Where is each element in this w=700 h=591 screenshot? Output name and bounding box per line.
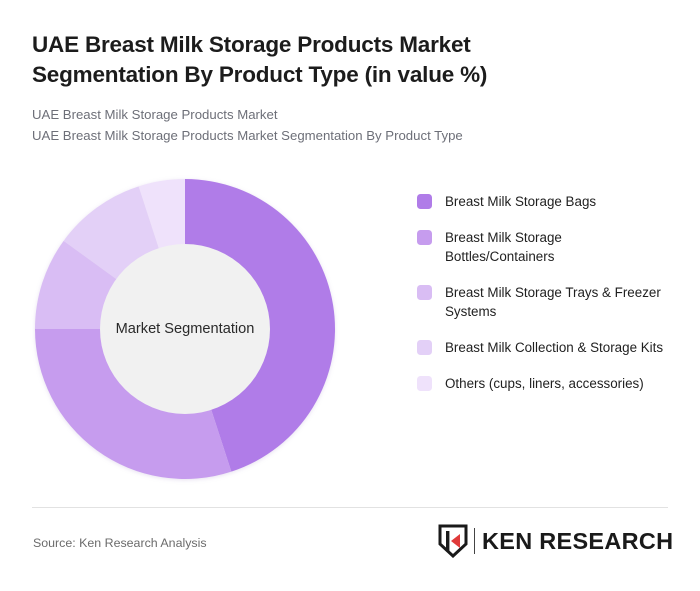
legend-item[interactable]: Breast Milk Collection & Storage Kits [417, 338, 667, 357]
chart-legend: Breast Milk Storage BagsBreast Milk Stor… [417, 192, 667, 410]
legend-label: Breast Milk Storage Bags [445, 192, 596, 211]
page-title: UAE Breast Milk Storage Products Market … [32, 30, 572, 89]
legend-label: Breast Milk Storage Bottles/Containers [445, 228, 667, 266]
subtitle-block: UAE Breast Milk Storage Products Market … [32, 105, 668, 146]
legend-item[interactable]: Breast Milk Storage Bottles/Containers [417, 228, 667, 266]
donut-svg [32, 176, 338, 482]
legend-item[interactable]: Others (cups, liners, accessories) [417, 374, 667, 393]
legend-item[interactable]: Breast Milk Storage Bags [417, 192, 667, 211]
source-text: Source: Ken Research Analysis [33, 536, 207, 550]
footer-divider [32, 507, 668, 508]
legend-swatch-icon [417, 230, 432, 245]
legend-swatch-icon [417, 340, 432, 355]
legend-swatch-icon [417, 194, 432, 209]
brand-divider [474, 528, 475, 554]
legend-swatch-icon [417, 285, 432, 300]
legend-label: Breast Milk Collection & Storage Kits [445, 338, 663, 357]
legend-item[interactable]: Breast Milk Storage Trays & Freezer Syst… [417, 283, 667, 321]
ken-research-shield-icon [438, 524, 468, 558]
brand-logo: KEN RESEARCH [438, 524, 670, 558]
brand-name: KEN RESEARCH [482, 528, 673, 555]
chart-card: UAE Breast Milk Storage Products Market … [0, 0, 700, 591]
chart-region: Market Segmentation Breast Milk Storage … [32, 170, 668, 490]
donut-hole [100, 244, 270, 414]
donut-chart[interactable]: Market Segmentation [32, 176, 338, 482]
subtitle-line-2: UAE Breast Milk Storage Products Market … [32, 126, 668, 146]
legend-label: Others (cups, liners, accessories) [445, 374, 644, 393]
legend-swatch-icon [417, 376, 432, 391]
subtitle-line-1: UAE Breast Milk Storage Products Market [32, 105, 668, 125]
legend-label: Breast Milk Storage Trays & Freezer Syst… [445, 283, 667, 321]
